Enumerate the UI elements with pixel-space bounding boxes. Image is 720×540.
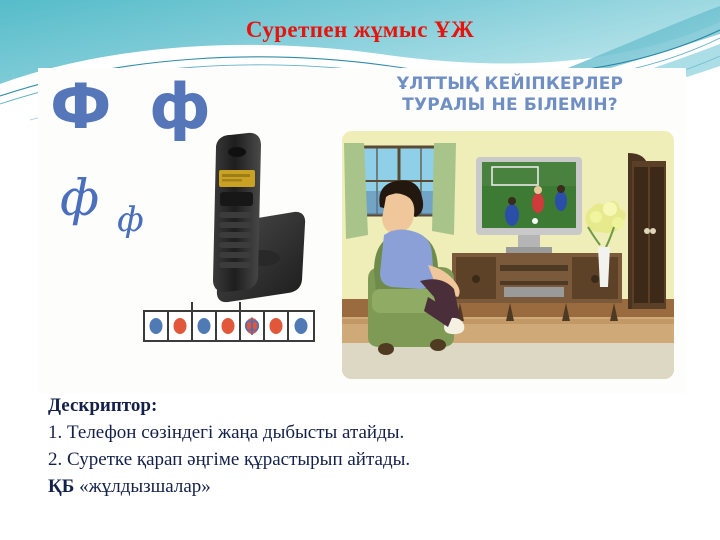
assessment-line: ҚБ «жұлдызшалар» [48, 473, 410, 500]
descriptor-item-2: 2. Суретке қарап әңгіме құрастырып айтад… [48, 446, 410, 473]
scheme-cell [169, 312, 193, 340]
illustration-heading: ҰЛТТЫҚ КЕЙІПКЕРЛЕР ТУРАЛЫ НЕ БІЛЕМІН? [336, 74, 684, 115]
descriptor-block: Дескриптор: 1. Телефон сөзіндегі жаңа ды… [48, 392, 410, 501]
sound-scheme: ф [143, 310, 315, 342]
illustration-block: ҰЛТТЫҚ КЕЙІПКЕРЛЕР ТУРАЛЫ НЕ БІЛЕМІН? [336, 68, 684, 390]
scheme-cell [193, 312, 217, 340]
assessment-value: «жұлдызшалар» [79, 476, 211, 497]
assessment-label: ҚБ [48, 476, 74, 497]
page-title: Суретпен жұмыс ҰЖ [0, 17, 720, 43]
illustration-heading-line2: ТУРАЛЫ НЕ БІЛЕМІН? [336, 95, 684, 116]
scheme-cell [289, 312, 313, 340]
scheme-cell [145, 312, 169, 340]
slide: Суретпен жұмыс ҰЖ Ф ф фф [0, 0, 720, 540]
worksheet-image: Ф ф фф [38, 68, 686, 393]
letter-cursive-small: ф [117, 200, 144, 240]
letter-cursive-group: фф [60, 173, 144, 223]
scheme-cell [217, 312, 241, 340]
living-room-scene [342, 131, 674, 379]
letter-print-ff: Ф ф [50, 76, 219, 138]
scheme-cell-letter: ф [241, 312, 265, 340]
scheme-cell [265, 312, 289, 340]
descriptor-item-1: 1. Телефон сөзіндегі жаңа дыбысты атайды… [48, 419, 410, 446]
cordless-telephone-photo [186, 130, 311, 315]
letter-cursive-large: ф [60, 169, 99, 227]
descriptor-heading: Дескриптор: [48, 392, 410, 419]
illustration-heading-line1: ҰЛТТЫҚ КЕЙІПКЕРЛЕР [336, 74, 684, 95]
scheme-letter: ф [244, 316, 260, 335]
